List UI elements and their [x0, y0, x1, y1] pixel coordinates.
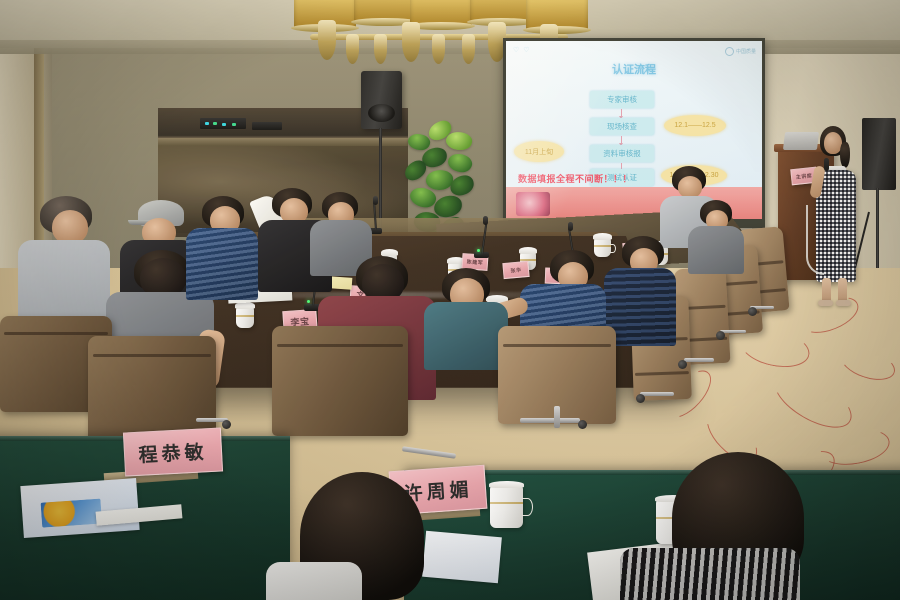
chandelier-finial — [346, 34, 359, 64]
attendee-head — [52, 210, 88, 244]
presenter-shoe — [836, 300, 851, 306]
status-led — [213, 122, 217, 125]
teacup-handle — [522, 498, 533, 516]
conference-room-photo: ♡ ♡ 中国质量 认证流程 专家审核 现场核查 资料审核报 测试认证 11月上旬… — [0, 0, 900, 600]
chair-caster — [636, 394, 645, 403]
attendee-body — [688, 226, 744, 274]
chandelier-shade — [470, 0, 532, 22]
shirt-stripes — [186, 228, 258, 300]
slide-title: 认证流程 — [506, 61, 762, 77]
slide-logo-right-text: 中国质量 — [736, 48, 756, 55]
lidded-teacup[interactable] — [490, 486, 523, 528]
laptop[interactable] — [783, 132, 819, 150]
chair-seam — [503, 344, 612, 347]
chair-seam — [277, 344, 402, 347]
chandelier-finial — [402, 22, 420, 62]
chair-post — [554, 406, 560, 428]
chandelier-finial — [374, 34, 387, 64]
chandelier-shade — [354, 0, 416, 22]
table-name-card: 张华 — [502, 261, 529, 279]
flow-arrow-icon — [621, 136, 622, 144]
foreground-person-shoulder — [620, 548, 800, 600]
slide-red-note: 数据填报全程不间断！！！ — [518, 172, 688, 185]
shirt-stripes — [620, 548, 800, 600]
chair-caster — [578, 420, 587, 429]
attendee-body — [424, 302, 508, 370]
slide-footer-image — [516, 192, 550, 216]
chandelier-finial — [432, 34, 445, 64]
attendee-body — [186, 228, 258, 300]
flow-box: 现场核查 — [590, 118, 654, 135]
occupied-chair[interactable] — [272, 326, 408, 436]
status-led — [222, 123, 226, 126]
flow-box: 专家审核 — [590, 91, 654, 108]
chair-caster — [748, 307, 757, 316]
flow-arrow-icon — [621, 109, 622, 117]
chair-seam — [4, 332, 107, 335]
chair-base — [520, 418, 580, 423]
chair-caster — [716, 331, 725, 340]
presenter-ponytail — [840, 142, 850, 168]
slide-logo-left: ♡ ♡ — [513, 46, 531, 54]
attendee-head — [678, 176, 702, 198]
microphone-led — [477, 249, 480, 252]
foreground-person-shoulder — [266, 562, 362, 600]
av-equipment[interactable] — [252, 122, 282, 130]
brochure[interactable] — [20, 478, 139, 538]
status-led — [205, 122, 209, 125]
pa-speaker — [862, 118, 896, 190]
status-led — [232, 123, 236, 126]
lidded-teacup — [594, 238, 611, 257]
brochure-image — [40, 498, 102, 527]
chandelier-finial — [462, 34, 475, 64]
chair-seam — [635, 371, 688, 376]
occupied-chair[interactable] — [88, 336, 216, 442]
chandelier-finial — [318, 20, 336, 60]
microphone-cable — [806, 205, 824, 275]
flow-oval: 12.1——12.5 — [664, 115, 726, 136]
chandelier-shade — [410, 0, 472, 26]
flow-oval: 11月上旬 — [514, 141, 564, 162]
microphone-head — [373, 196, 378, 205]
presenter-shoe — [818, 300, 833, 306]
chair-base — [684, 358, 714, 362]
chair-base — [640, 392, 674, 396]
teacup-handle — [610, 244, 616, 253]
microphone-head — [483, 216, 488, 225]
chair-caster — [222, 420, 231, 429]
lidded-teacup — [236, 307, 254, 328]
logo-circle-icon — [725, 47, 734, 56]
projection-screen-frame: ♡ ♡ 中国质量 认证流程 专家审核 现场核查 资料审核报 测试认证 11月上旬… — [503, 38, 765, 228]
credenza-top — [158, 138, 408, 146]
foreground-name-card: 程恭敏 — [123, 427, 223, 476]
slide-logo-right: 中国质量 — [725, 47, 756, 56]
microphone-head — [568, 222, 573, 231]
chair-caster — [678, 360, 687, 369]
pa-speaker — [361, 71, 402, 129]
handheld-microphone[interactable] — [824, 158, 829, 171]
document — [422, 531, 502, 583]
projection-screen: ♡ ♡ 中国质量 认证流程 专家审核 现场核查 资料审核报 测试认证 11月上旬… — [506, 41, 762, 219]
chair-seam — [93, 354, 211, 357]
microphone-led — [307, 300, 310, 303]
flow-box: 资料审核报 — [590, 145, 654, 162]
